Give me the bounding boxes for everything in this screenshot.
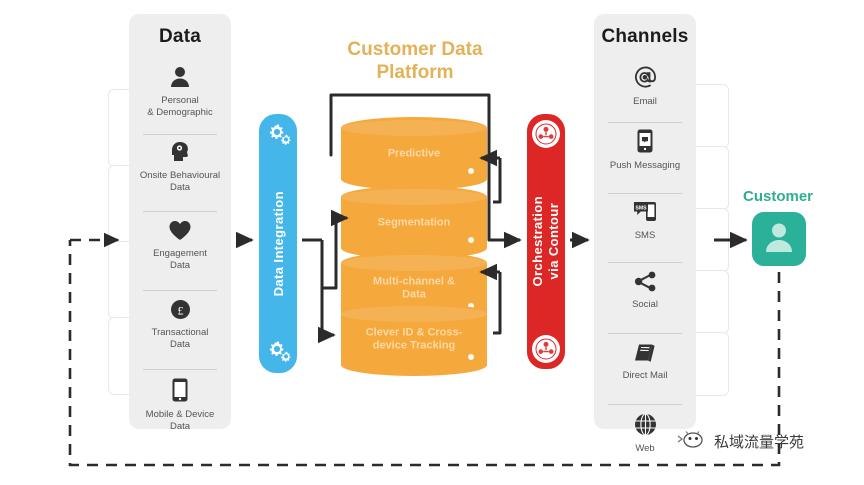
envelope-stack-icon	[594, 342, 696, 367]
channel-item-sms[interactable]: SMS SMS	[594, 194, 696, 262]
at-sign-icon	[594, 66, 696, 93]
diagram-canvas: Data Personal& Demographic Onsite Behavi…	[0, 0, 864, 485]
data-item-label: Mobile & DeviceData	[129, 409, 231, 432]
data-item-label: TransactionalData	[129, 327, 231, 350]
cat-face-logo-icon	[676, 429, 708, 454]
data-integration-label: Data Integration	[271, 191, 286, 296]
gears-icon	[265, 122, 291, 148]
data-item-label: Onsite BehaviouralData	[129, 170, 231, 193]
channels-panel-title: Channels	[594, 26, 696, 48]
push-notification-icon	[594, 129, 696, 157]
data-panel-title: Data	[129, 26, 231, 48]
orchestration-pill[interactable]: Orchestrationvia Contour	[527, 114, 565, 369]
channel-item-direct-mail[interactable]: Direct Mail	[594, 334, 696, 404]
channel-item-push-messaging[interactable]: Push Messaging	[594, 123, 696, 193]
data-item-label: EngagementData	[129, 248, 231, 271]
cdp-layer-label: Segmentation	[347, 216, 481, 230]
watermark-text: 私域流量学苑	[714, 431, 804, 452]
cdp-layer-label: Clever ID & Cross-device Tracking	[347, 326, 481, 353]
arrow-integration-to-clever-id	[322, 240, 334, 335]
sms-bubble-icon: SMS	[594, 200, 696, 227]
data-item-engagement[interactable]: EngagementData	[129, 212, 231, 290]
contour-badge-icon	[532, 120, 560, 148]
page-title: Customer DataPlatform	[325, 38, 505, 84]
cdp-layer-label: Predictive	[347, 147, 481, 161]
user-avatar-icon	[764, 221, 794, 258]
data-item-transactional[interactable]: £ TransactionalData	[129, 291, 231, 369]
channel-item-social[interactable]: Social	[594, 263, 696, 333]
svg-text:SMS: SMS	[635, 206, 647, 212]
cylinder-gloss	[341, 306, 487, 322]
channel-item-email[interactable]: Email	[594, 66, 696, 122]
channel-item-label: Email	[594, 96, 696, 108]
cdp-layer-clever-id[interactable]: Clever ID & Cross-device Tracking	[341, 303, 487, 376]
cylinder-gloss	[341, 255, 487, 271]
watermark: 私域流量学苑	[676, 429, 804, 454]
gears-icon	[265, 339, 291, 365]
channel-item-label: Push Messaging	[594, 160, 696, 172]
orchestration-label: Orchestrationvia Contour	[530, 196, 562, 286]
mobile-phone-icon	[129, 378, 231, 406]
channels-panel: Channels Email Push Messaging SMS	[594, 14, 696, 429]
data-item-onsite-behavioural[interactable]: Onsite BehaviouralData	[129, 135, 231, 211]
line-seg-to-pred-a	[493, 158, 500, 202]
channel-item-label: Direct Mail	[594, 370, 696, 382]
data-item-label: Personal& Demographic	[129, 95, 231, 118]
customer-label: Customer	[728, 188, 828, 205]
customer-box[interactable]	[752, 212, 806, 266]
data-item-personal[interactable]: Personal& Demographic	[129, 66, 231, 134]
cylinder-gloss	[341, 120, 487, 136]
data-panel: Data Personal& Demographic Onsite Behavi…	[129, 14, 231, 429]
pound-coin-icon: £	[129, 299, 231, 324]
cylinder-bottom	[341, 354, 487, 376]
head-brain-icon	[129, 141, 231, 167]
data-item-mobile-device[interactable]: Mobile & DeviceData	[129, 370, 231, 448]
cylinder-dot	[468, 354, 474, 360]
svg-text:£: £	[177, 304, 183, 318]
cylinder-dot	[468, 168, 474, 174]
person-icon	[129, 66, 231, 92]
heart-icon	[129, 220, 231, 245]
contour-badge-icon	[532, 335, 560, 363]
arrow-cdp-to-orchestration	[489, 95, 520, 240]
cdp-layer-predictive[interactable]: Predictive	[341, 117, 487, 190]
cylinder-gloss	[341, 189, 487, 205]
channel-item-label: SMS	[594, 230, 696, 242]
cylinder-dot	[468, 237, 474, 243]
cdp-layer-label: Multi-channel &Data	[347, 275, 481, 302]
share-nodes-icon	[594, 271, 696, 296]
cdp-layer-segmentation[interactable]: Segmentation	[341, 186, 487, 259]
line-clever-to-multi-a	[493, 272, 500, 333]
channel-item-label: Social	[594, 299, 696, 311]
data-integration-pill[interactable]: Data Integration	[259, 114, 297, 373]
